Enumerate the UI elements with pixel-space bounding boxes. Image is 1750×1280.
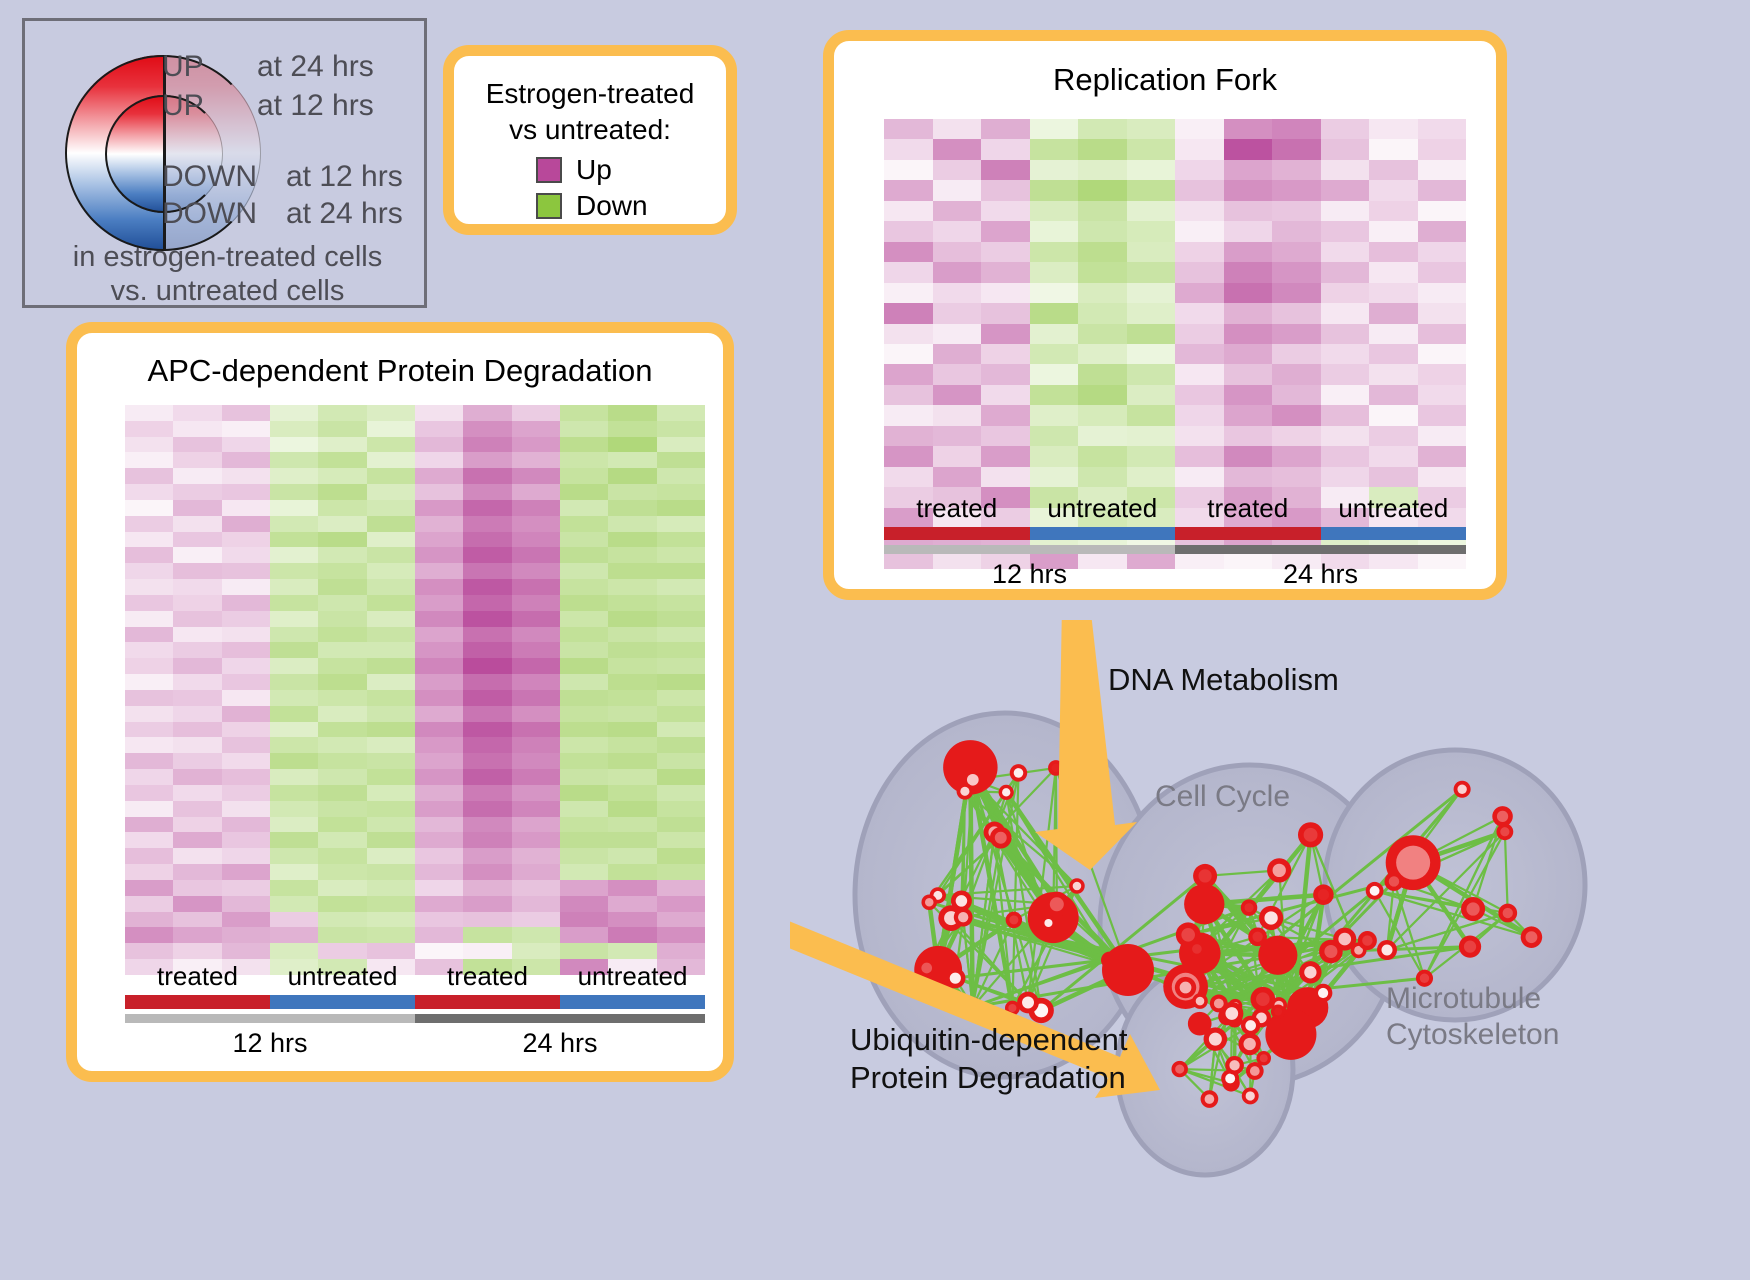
label-cell-cycle: Cell Cycle — [1155, 780, 1290, 813]
heatmap-cell — [270, 642, 318, 658]
replication-fork-card: Replication Fork treated untreated treat… — [823, 30, 1507, 600]
node-inner-fill — [1382, 945, 1393, 956]
node-inner-fill — [1002, 788, 1010, 796]
heatmap-cell — [173, 627, 221, 643]
heatmap-cell — [270, 769, 318, 785]
heatmap-cell — [318, 848, 366, 864]
heatmap-cell — [1272, 160, 1321, 180]
heatmap-cell — [463, 674, 511, 690]
heatmap-cell — [367, 690, 415, 706]
node-inner-fill — [1497, 811, 1508, 822]
heatmap-cell — [884, 160, 933, 180]
node-outer-ring — [1184, 884, 1224, 924]
heatmap-cell — [981, 283, 1030, 303]
heatmap-cell — [1078, 324, 1127, 344]
network-node[interactable] — [921, 894, 937, 910]
heatmap-cell — [1321, 180, 1370, 200]
heatmap-cell — [1272, 405, 1321, 425]
heatmap-cell — [981, 446, 1030, 466]
heatmap-cell — [125, 832, 173, 848]
heatmap-cell — [318, 674, 366, 690]
heatmap-cell — [1272, 221, 1321, 241]
network-node[interactable] — [1492, 806, 1513, 827]
heatmap-cell — [560, 801, 608, 817]
heatmap-cell — [1224, 160, 1273, 180]
replication-fork-group-labels: treated untreated treated untreated — [884, 493, 1466, 524]
network-node[interactable] — [1377, 940, 1397, 960]
replication-fork-title: Replication Fork — [834, 62, 1496, 98]
heatmap-cell — [1078, 426, 1127, 446]
heatmap-cell — [318, 737, 366, 753]
heatmap-cell — [1369, 364, 1418, 384]
up-label: Up — [576, 154, 612, 186]
network-node[interactable] — [1319, 940, 1343, 964]
node-inner-fill — [950, 973, 961, 984]
heatmap-cell — [884, 201, 933, 221]
network-node[interactable] — [1102, 944, 1154, 996]
legend-row-3-direction: DOWN — [162, 197, 257, 231]
heatmap-cell — [1418, 160, 1467, 180]
network-node[interactable] — [1384, 872, 1403, 891]
network-node[interactable] — [990, 827, 1012, 849]
treatment-bar-segment — [1175, 527, 1321, 540]
heatmap-cell — [125, 579, 173, 595]
heatmap-cell — [125, 405, 173, 421]
heatmap-cell — [1030, 221, 1079, 241]
heatmap-cell — [222, 864, 270, 880]
heatmap-cell — [608, 817, 656, 833]
heatmap-cell — [222, 848, 270, 864]
heatmap-cell — [125, 516, 173, 532]
heatmap-cell — [318, 611, 366, 627]
heatmap-cell — [512, 437, 560, 453]
heatmap-cell — [270, 753, 318, 769]
heatmap-cell — [415, 437, 463, 453]
network-node[interactable] — [1259, 906, 1283, 930]
heatmap-cell — [512, 801, 560, 817]
heatmap-cell — [657, 722, 705, 738]
heatmap-cell — [1175, 283, 1224, 303]
network-node[interactable] — [1225, 1056, 1244, 1075]
heatmap-cell — [1321, 221, 1370, 241]
heatmap-cell — [222, 785, 270, 801]
heatmap-cell — [981, 324, 1030, 344]
heatmap-cell — [173, 579, 221, 595]
heatmap-cell — [318, 595, 366, 611]
heatmap-cell — [367, 468, 415, 484]
heatmap-cell — [560, 832, 608, 848]
heatmap-cell — [463, 722, 511, 738]
replication-fork-treatment-bar — [884, 527, 1466, 540]
heatmap-cell — [270, 421, 318, 437]
heatmap-cell — [1369, 242, 1418, 262]
heatmap-cell — [463, 516, 511, 532]
heatmap-cell — [560, 674, 608, 690]
heatmap-cell — [415, 579, 463, 595]
node-inner-fill — [1196, 997, 1205, 1006]
heatmap-cell — [222, 452, 270, 468]
heatmap-cell — [318, 832, 366, 848]
node-inner-fill — [1256, 992, 1270, 1006]
network-node[interactable] — [1171, 1061, 1187, 1077]
network-node[interactable] — [1193, 864, 1217, 888]
heatmap-cell — [270, 927, 318, 943]
heatmap-cell — [270, 579, 318, 595]
heatmap-cell — [1078, 180, 1127, 200]
heatmap-cell — [1418, 303, 1467, 323]
network-node[interactable] — [1313, 884, 1334, 905]
heatmap-cell — [415, 737, 463, 753]
heatmap-cell — [415, 832, 463, 848]
network-node[interactable] — [1271, 1004, 1285, 1018]
heatmap-cell — [933, 201, 982, 221]
heatmap-cell — [270, 532, 318, 548]
heatmap-cell — [173, 896, 221, 912]
node-inner-fill — [1246, 1091, 1255, 1100]
node-inner-fill — [1229, 1060, 1239, 1070]
node-inner-fill — [1362, 935, 1372, 945]
heatmap-cell — [415, 722, 463, 738]
heatmap-cell — [415, 642, 463, 658]
network-node[interactable] — [1241, 1016, 1260, 1035]
heatmap-cell — [1321, 283, 1370, 303]
heatmap-cell — [125, 817, 173, 833]
heatmap-cell — [463, 595, 511, 611]
network-node[interactable] — [1204, 1027, 1228, 1051]
heatmap-cell — [1369, 119, 1418, 139]
heatmap-cell — [463, 769, 511, 785]
heatmap-cell — [657, 927, 705, 943]
heatmap-cell — [512, 579, 560, 595]
heatmap-cell — [560, 864, 608, 880]
heatmap-cell — [657, 484, 705, 500]
heatmap-cell — [512, 563, 560, 579]
heatmap-cell — [1369, 139, 1418, 159]
heatmap-cell — [270, 785, 318, 801]
node-inner-fill — [1245, 1020, 1256, 1031]
network-node[interactable] — [1454, 781, 1471, 798]
heatmap-cell — [222, 627, 270, 643]
network-node[interactable] — [1366, 882, 1384, 900]
heatmap-cell — [512, 516, 560, 532]
heatmap-cell — [222, 912, 270, 928]
network-node[interactable] — [1498, 904, 1517, 923]
heatmap-cell — [933, 139, 982, 159]
heatmap-cell — [1369, 201, 1418, 221]
heatmap-cell — [1078, 262, 1127, 282]
network-node[interactable] — [1314, 984, 1333, 1003]
network-node[interactable] — [1358, 931, 1377, 950]
node-outer-ring — [1102, 944, 1154, 996]
heatmap-cell — [1175, 324, 1224, 344]
heatmap-cell — [981, 201, 1030, 221]
network-node[interactable] — [1044, 892, 1069, 917]
heatmap-cell — [270, 832, 318, 848]
heatmap-cell — [222, 595, 270, 611]
heatmap-cell — [318, 706, 366, 722]
heatmap-cell — [463, 864, 511, 880]
heatmap-cell — [1224, 344, 1273, 364]
heatmap-cell — [1418, 385, 1467, 405]
time-bar-segment — [1175, 545, 1466, 554]
network-node[interactable] — [1248, 927, 1267, 946]
heatmap-cell — [463, 547, 511, 563]
group-label: treated — [415, 961, 560, 992]
network-node[interactable] — [1298, 822, 1323, 847]
network-node[interactable] — [1041, 916, 1056, 931]
heatmap-cell — [1078, 467, 1127, 487]
heatmap-cell — [125, 642, 173, 658]
heatmap-cell — [415, 864, 463, 880]
node-inner-fill — [1225, 1074, 1235, 1084]
heatmap-cell — [415, 785, 463, 801]
heatmap-cell — [463, 753, 511, 769]
heatmap-cell — [608, 927, 656, 943]
network-node[interactable] — [1461, 897, 1485, 921]
heatmap-cell — [173, 817, 221, 833]
heatmap-cell — [463, 563, 511, 579]
heatmap-cell — [173, 658, 221, 674]
heatmap-cell — [367, 547, 415, 563]
heatmap-cell — [318, 880, 366, 896]
heatmap-cell — [1175, 364, 1224, 384]
heatmap-cell — [512, 627, 560, 643]
heatmap-cell — [1369, 303, 1418, 323]
network-node[interactable] — [1192, 993, 1208, 1009]
heatmap-cell — [560, 405, 608, 421]
heatmap-cell — [933, 262, 982, 282]
heatmap-cell — [367, 880, 415, 896]
heatmap-cell — [1030, 467, 1079, 487]
network-node[interactable] — [1521, 926, 1543, 948]
network-node[interactable] — [1267, 858, 1291, 882]
heatmap-cell — [463, 912, 511, 928]
heatmap-cell — [318, 785, 366, 801]
heatmap-cell — [657, 753, 705, 769]
heatmap-cell — [657, 500, 705, 516]
time-label: 12 hrs — [125, 1028, 415, 1059]
heatmap-cell — [222, 674, 270, 690]
key-line-1: Estrogen-treated — [454, 78, 726, 110]
heatmap-cell — [1369, 344, 1418, 364]
heatmap-cell — [933, 119, 982, 139]
network-node[interactable] — [999, 785, 1014, 800]
network-node[interactable] — [1006, 912, 1022, 928]
heatmap-cell — [1321, 119, 1370, 139]
network-node[interactable] — [1184, 884, 1224, 924]
heatmap-cell — [173, 547, 221, 563]
heatmap-cell — [318, 437, 366, 453]
heatmap-cell — [415, 452, 463, 468]
pathway-network-diagram: DNA Metabolism Cell Cycle Microtubule Cy… — [790, 620, 1750, 1280]
heatmap-cell — [125, 595, 173, 611]
heatmap-cell — [1127, 262, 1176, 282]
network-node[interactable] — [1459, 936, 1481, 958]
heatmap-cell — [608, 437, 656, 453]
heatmap-cell — [270, 658, 318, 674]
node-inner-fill — [1274, 1008, 1282, 1016]
heatmap-cell — [1175, 119, 1224, 139]
node-inner-fill — [960, 787, 969, 796]
heatmap-cell — [1418, 221, 1467, 241]
heatmap-cell — [415, 595, 463, 611]
heatmap-cell — [270, 452, 318, 468]
heatmap-cell — [367, 722, 415, 738]
treatment-bar-segment — [1030, 527, 1176, 540]
heatmap-cell — [367, 753, 415, 769]
heatmap-cell — [367, 912, 415, 928]
heatmap-cell — [1369, 262, 1418, 282]
network-node[interactable] — [1242, 1088, 1259, 1105]
heatmap-cell — [173, 706, 221, 722]
heatmap-cell — [884, 364, 933, 384]
heatmap-cell — [933, 446, 982, 466]
heatmap-cell — [608, 516, 656, 532]
heatmap-cell — [657, 864, 705, 880]
network-node[interactable] — [1299, 961, 1321, 983]
heatmap-cell — [222, 832, 270, 848]
heatmap-cell — [1030, 180, 1079, 200]
legend-row-1-time: at 12 hrs — [257, 89, 374, 123]
heatmap-cell — [981, 467, 1030, 487]
network-node[interactable] — [1241, 899, 1257, 915]
group-label: treated — [125, 961, 270, 992]
heatmap-cell — [222, 737, 270, 753]
heatmap-cell — [1127, 446, 1176, 466]
network-node[interactable] — [1010, 764, 1027, 781]
heatmap-cell — [222, 801, 270, 817]
heatmap-cell — [270, 801, 318, 817]
heatmap-cell — [222, 468, 270, 484]
heatmap-cell — [1127, 467, 1176, 487]
heatmap-cell — [173, 437, 221, 453]
heatmap-cell — [512, 722, 560, 738]
heatmap-cell — [125, 421, 173, 437]
legend-row-1-direction: UP — [162, 89, 204, 123]
heatmap-cell — [884, 180, 933, 200]
heatmap-cell — [1272, 446, 1321, 466]
heatmap-cell — [1078, 160, 1127, 180]
time-label: 24 hrs — [1175, 559, 1466, 590]
heatmap-cell — [463, 579, 511, 595]
heatmap-cell — [1127, 303, 1176, 323]
heatmap-cell — [1078, 139, 1127, 159]
heatmap-cell — [367, 658, 415, 674]
network-node[interactable] — [1201, 1090, 1219, 1108]
network-node[interactable] — [1175, 977, 1196, 998]
heatmap-cell — [1224, 324, 1273, 344]
heatmap-cell — [1418, 201, 1467, 221]
network-node[interactable] — [954, 908, 973, 927]
heatmap-cell — [173, 785, 221, 801]
heatmap-cell — [463, 468, 511, 484]
network-node[interactable] — [1238, 1033, 1260, 1055]
heatmap-cell — [125, 452, 173, 468]
heatmap-cell — [463, 896, 511, 912]
heatmap-cell — [981, 180, 1030, 200]
heatmap-cell — [1127, 139, 1176, 159]
heatmap-cell — [1030, 303, 1079, 323]
heatmap-cell — [415, 421, 463, 437]
heatmap-cell — [1078, 283, 1127, 303]
heatmap-cell — [1127, 405, 1176, 425]
heatmap-cell — [981, 221, 1030, 241]
heatmap-cell — [125, 880, 173, 896]
heatmap-cell — [1127, 283, 1176, 303]
heatmap-cell — [1127, 364, 1176, 384]
gradient-legend-box: UP at 24 hrs UP at 12 hrs DOWN at 12 hrs… — [22, 18, 427, 308]
heatmap-cell — [560, 500, 608, 516]
apc-degradation-heatmap — [125, 405, 705, 975]
heatmap-cell — [608, 484, 656, 500]
heatmap-cell — [1175, 160, 1224, 180]
heatmap-cell — [560, 484, 608, 500]
heatmap-cell — [367, 848, 415, 864]
network-node[interactable] — [1220, 1002, 1243, 1025]
heatmap-cell — [512, 832, 560, 848]
heatmap-cell — [415, 943, 463, 959]
legend-row-0-time: at 24 hrs — [257, 50, 374, 84]
key-line-2: vs untreated: — [454, 114, 726, 146]
heatmap-cell — [367, 769, 415, 785]
heatmap-cell — [657, 737, 705, 753]
heatmap-cell — [222, 611, 270, 627]
node-inner-fill — [1503, 908, 1513, 918]
network-node[interactable] — [1017, 992, 1039, 1014]
network-node[interactable] — [1069, 878, 1085, 894]
heatmap-cell — [512, 595, 560, 611]
heatmap-cell — [222, 896, 270, 912]
heatmap-cell — [415, 611, 463, 627]
heatmap-cell — [1369, 221, 1418, 241]
heatmap-cell — [173, 722, 221, 738]
heatmap-cell — [512, 611, 560, 627]
heatmap-cell — [657, 516, 705, 532]
heatmap-cell — [463, 706, 511, 722]
heatmap-cell — [1224, 242, 1273, 262]
heatmap-cell — [367, 595, 415, 611]
heatmap-cell — [933, 385, 982, 405]
heatmap-cell — [318, 532, 366, 548]
network-node[interactable] — [1246, 1062, 1264, 1080]
heatmap-cell — [884, 242, 933, 262]
heatmap-cell — [318, 500, 366, 516]
network-node[interactable] — [1188, 940, 1206, 958]
heatmap-cell — [463, 848, 511, 864]
heatmap-cell — [222, 405, 270, 421]
heatmap-cell — [173, 848, 221, 864]
heatmap-cell — [608, 848, 656, 864]
node-inner-fill — [1181, 928, 1195, 942]
heatmap-cell — [1224, 364, 1273, 384]
heatmap-cell — [415, 516, 463, 532]
heatmap-cell — [512, 532, 560, 548]
heatmap-cell — [1175, 201, 1224, 221]
heatmap-cell — [1224, 446, 1273, 466]
heatmap-cell — [1224, 262, 1273, 282]
heatmap-cell — [222, 817, 270, 833]
heatmap-cell — [367, 674, 415, 690]
heatmap-cell — [512, 864, 560, 880]
network-node[interactable] — [957, 783, 974, 800]
network-node[interactable] — [945, 968, 965, 988]
heatmap-cell — [318, 658, 366, 674]
heatmap-cell — [125, 848, 173, 864]
heatmap-cell — [125, 737, 173, 753]
heatmap-cell — [1321, 467, 1370, 487]
heatmap-cell — [512, 642, 560, 658]
key-item-down: Down — [536, 190, 648, 222]
